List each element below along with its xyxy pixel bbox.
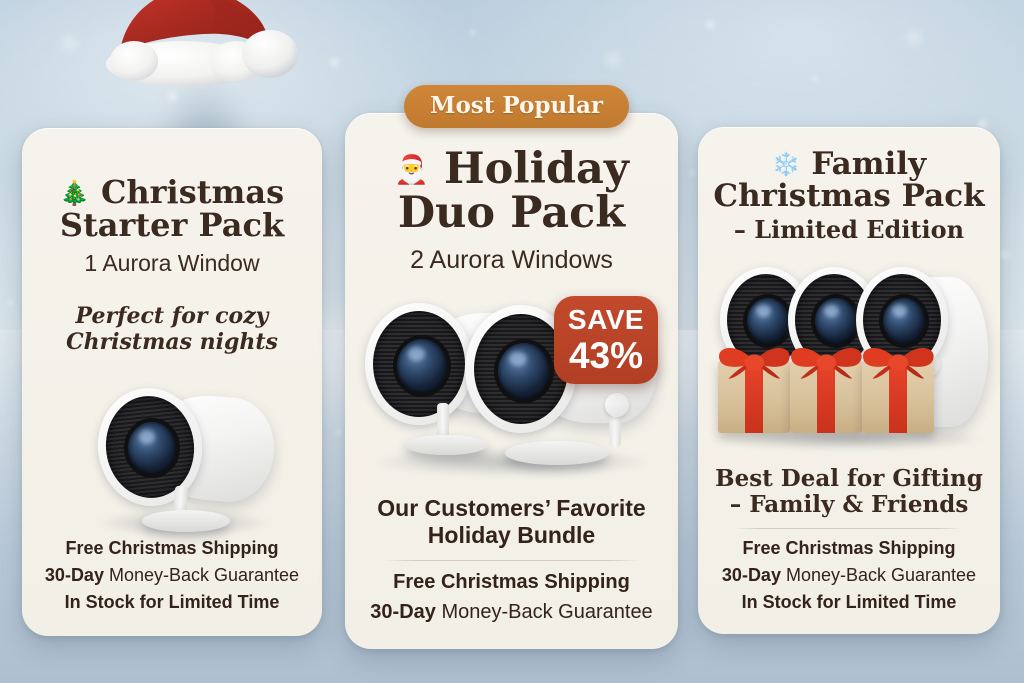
tagline-line2: Christmas nights xyxy=(66,329,278,355)
pitch-line1: Best Deal for Gifting xyxy=(715,465,983,492)
card-subtitle: 2 Aurora Windows xyxy=(410,246,613,275)
card-divider xyxy=(383,560,639,561)
pitch-line2: Holiday Bundle xyxy=(428,522,595,548)
gift-box xyxy=(862,335,934,435)
most-popular-badge: Most Popular xyxy=(404,85,629,128)
perk-item: 30-Day Money-Back Guarantee xyxy=(712,562,986,589)
card-tagline: Perfect for cozy Christmas nights xyxy=(66,303,278,357)
christmas-tree-icon: 🎄 xyxy=(60,178,90,207)
card-pitch: Our Customers’ Favorite Holiday Bundle xyxy=(377,495,645,549)
card-title: ❄️ Family Christmas Pack – Limited Editi… xyxy=(713,149,984,245)
perk-item: Free Christmas Shipping xyxy=(359,567,664,597)
card-title: 🎄 Christmas Starter Pack xyxy=(60,176,284,242)
perk-item: 30-Day Money-Back Guarantee xyxy=(359,597,664,627)
perk-bold: In Stock for Limited Time xyxy=(742,592,957,612)
perk-lite: Money-Back Guarantee xyxy=(436,601,653,623)
card-title-line2: Starter Pack xyxy=(60,206,284,244)
pricing-card-family-christmas-pack[interactable]: ❄️ Family Christmas Pack – Limited Editi… xyxy=(698,127,1000,634)
bokeh-dot xyxy=(470,30,475,35)
perk-bold: Free Christmas Shipping xyxy=(65,538,278,558)
product-image-three-projectors-gifts xyxy=(704,259,994,449)
card-title-line2: Christmas Pack xyxy=(713,178,984,214)
card-divider xyxy=(734,528,964,529)
perk-bold: Free Christmas Shipping xyxy=(393,571,630,593)
pricing-card-christmas-starter-pack[interactable]: 🎄 Christmas Starter Pack 1 Aurora Window… xyxy=(22,128,322,636)
perk-bold: 30-Day xyxy=(722,565,781,585)
perk-item: In Stock for Limited Time xyxy=(712,589,986,616)
bokeh-dot xyxy=(706,20,715,29)
bokeh-dot xyxy=(62,36,77,51)
perks-list: Free Christmas Shipping 30-Day Money-Bac… xyxy=(36,535,308,616)
tagline-line1: Perfect for cozy xyxy=(76,303,269,329)
bokeh-dot xyxy=(330,58,339,67)
product-image-single-projector xyxy=(36,370,308,535)
red-bow-icon xyxy=(714,335,795,383)
card-title-line1: Family xyxy=(811,146,926,182)
save-value: 43% xyxy=(569,337,643,374)
perk-bold: 30-Day xyxy=(370,601,436,623)
save-percentage-badge: SAVE 43% xyxy=(554,296,658,384)
bokeh-dot xyxy=(336,430,341,435)
perk-item: Free Christmas Shipping xyxy=(712,535,986,562)
card-title-line2: Duo Pack xyxy=(398,188,625,238)
perk-bold: In Stock for Limited Time xyxy=(65,592,280,612)
perk-item: 30-Day Money-Back Guarantee xyxy=(36,562,308,589)
card-title-line1: Holiday xyxy=(444,144,629,194)
snowflake-icon: ❄️ xyxy=(772,151,801,178)
red-bow-icon xyxy=(858,335,939,383)
red-bow-icon xyxy=(786,335,867,383)
gift-box xyxy=(718,335,790,435)
pitch-line2: – Family & Friends xyxy=(730,491,969,518)
card-title: 🎅 Holiday Duo Pack xyxy=(394,147,629,236)
bokeh-dot xyxy=(606,52,621,67)
gift-box xyxy=(790,335,862,435)
pitch-line1: Our Customers’ Favorite xyxy=(377,495,645,521)
card-title-line3: – Limited Edition xyxy=(734,215,964,244)
perk-lite: Money-Back Guarantee xyxy=(781,565,976,585)
bokeh-dot xyxy=(8,300,13,305)
bokeh-dot xyxy=(1000,250,1009,259)
save-label: SAVE xyxy=(568,306,644,334)
perk-lite: Money-Back Guarantee xyxy=(104,565,299,585)
perks-list: Free Christmas Shipping 30-Day Money-Bac… xyxy=(359,567,664,627)
perks-list: Free Christmas Shipping 30-Day Money-Bac… xyxy=(712,535,986,616)
perk-bold: 30-Day xyxy=(45,565,104,585)
santa-hat-decoration xyxy=(86,0,306,116)
card-pitch: Best Deal for Gifting – Family & Friends xyxy=(715,466,983,519)
card-subtitle: 1 Aurora Window xyxy=(84,250,259,277)
santa-hat-icon: 🎅 xyxy=(394,153,429,186)
perk-bold: Free Christmas Shipping xyxy=(742,538,955,558)
bokeh-dot xyxy=(690,170,695,175)
perk-item: Free Christmas Shipping xyxy=(36,535,308,562)
bokeh-dot xyxy=(812,76,817,81)
bokeh-dot xyxy=(906,30,921,45)
perk-item: In Stock for Limited Time xyxy=(36,589,308,616)
